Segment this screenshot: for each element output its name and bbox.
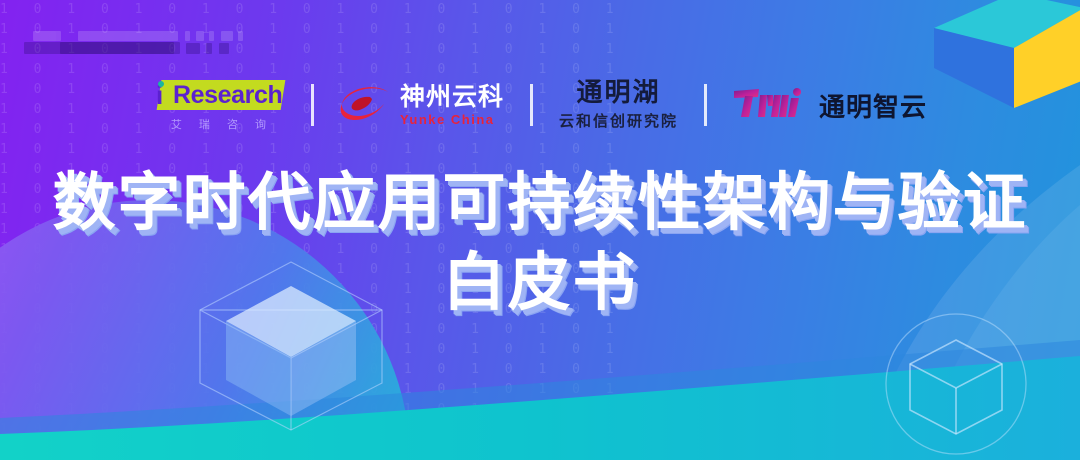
binary-row: 1 0 1 0 1 0 1 0 1 0 1 0 1 0 1 0 1 0 1 0 …: [0, 140, 640, 160]
decorative-bar: [206, 43, 212, 54]
tongminghu-name: 通明湖: [559, 79, 678, 108]
logo-divider: [530, 84, 533, 126]
decorative-bar: [196, 31, 204, 41]
decorative-bar: [209, 31, 214, 41]
logo-tongminghu: 通明湖 云和信创研究院: [559, 72, 678, 138]
decorative-bar: [60, 42, 180, 54]
tongminghu-subtitle: 云和信创研究院: [559, 110, 678, 131]
yunke-en-name: Yunke China: [400, 113, 504, 126]
tongming-zhiyun-name: 通明智云: [819, 87, 927, 124]
logo-divider: [704, 84, 707, 126]
decorative-bar: [186, 43, 200, 54]
page-title: 数字时代应用可持续性架构与验证 白皮书: [0, 166, 1080, 320]
yunke-swirl-icon: [340, 85, 392, 125]
logo-tongming-zhiyun: 通明智云: [733, 72, 927, 138]
iresearch-wordmark: Research: [173, 80, 282, 110]
logo-divider: [311, 84, 314, 126]
decorative-bar: [78, 31, 178, 41]
whitepaper-cover-banner: 1 0 1 0 1 0 1 0 1 0 1 0 1 0 1 0 1 0 1 0 …: [0, 0, 1080, 460]
iresearch-dot-icon: [158, 81, 164, 87]
yunke-cn-name: 神州云科: [400, 85, 504, 110]
decorative-bar: [221, 31, 233, 41]
decorative-bar: [219, 43, 229, 54]
iresearch-subtitle: 艾 瑞 咨 询: [153, 116, 285, 132]
logo-yunke-china: 神州云科 Yunke China: [340, 72, 504, 138]
decorative-bar: [33, 31, 61, 41]
wireframe-cube-in-circle: [856, 300, 1056, 460]
partner-logo-strip: i Research 艾 瑞 咨 询 神州云科 Yunke China: [0, 72, 1080, 138]
decorative-bar: [238, 31, 243, 41]
tml-mark-icon: [733, 86, 809, 124]
title-line-1: 数字时代应用可持续性架构与验证: [0, 166, 1080, 240]
title-line-2: 白皮书: [0, 246, 1080, 320]
decorative-bar: [185, 31, 190, 41]
binary-row: 1 0 1 0 1 0 1 0 1 0 1 0 1 0 1 0 1 0 1 0 …: [0, 0, 640, 20]
logo-iresearch: i Research 艾 瑞 咨 询: [153, 72, 285, 138]
